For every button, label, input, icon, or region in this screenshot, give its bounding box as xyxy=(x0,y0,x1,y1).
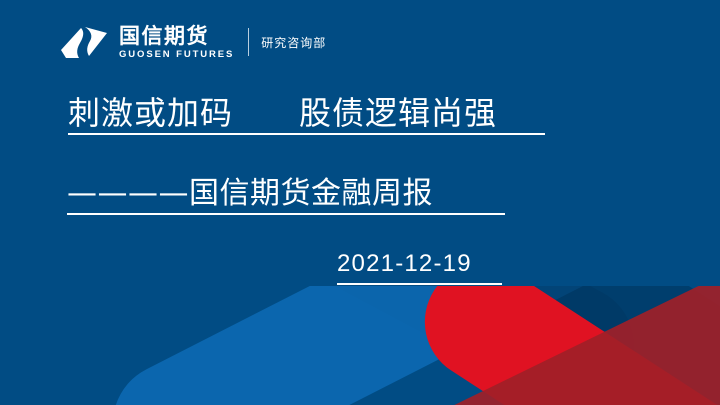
brand-wordmark: 国信期货 GUOSEN FUTURES xyxy=(119,25,234,61)
presentation-title-slide: 国信期货 GUOSEN FUTURES 研究咨询部 刺激或加码 股债逻辑尚强 —… xyxy=(0,0,720,405)
slide-date: 2021-12-19 xyxy=(337,249,472,279)
shape-dark-blue-upper-right xyxy=(442,167,720,405)
brand-divider xyxy=(248,28,249,56)
slide-title-main-underline xyxy=(68,133,545,135)
slide-title-subtitle-underline xyxy=(67,213,505,215)
department-label: 研究咨询部 xyxy=(261,34,326,51)
guosen-diamond-logo-icon xyxy=(58,20,110,64)
brand-name-cn: 国信期货 xyxy=(119,25,234,48)
slide-title-main: 刺激或加码 股债逻辑尚强 xyxy=(68,93,497,133)
shape-dark-red-lower-right xyxy=(244,227,720,405)
brand-lockup: 国信期货 GUOSEN FUTURES 研究咨询部 xyxy=(58,17,326,67)
slide-title-subtitle: ————国信期货金融周报 xyxy=(67,175,433,213)
slide-date-underline xyxy=(337,283,502,285)
logo-right-leaf xyxy=(85,27,107,56)
logo-left-leaf xyxy=(61,28,83,58)
brand-name-en: GUOSEN FUTURES xyxy=(119,49,234,61)
